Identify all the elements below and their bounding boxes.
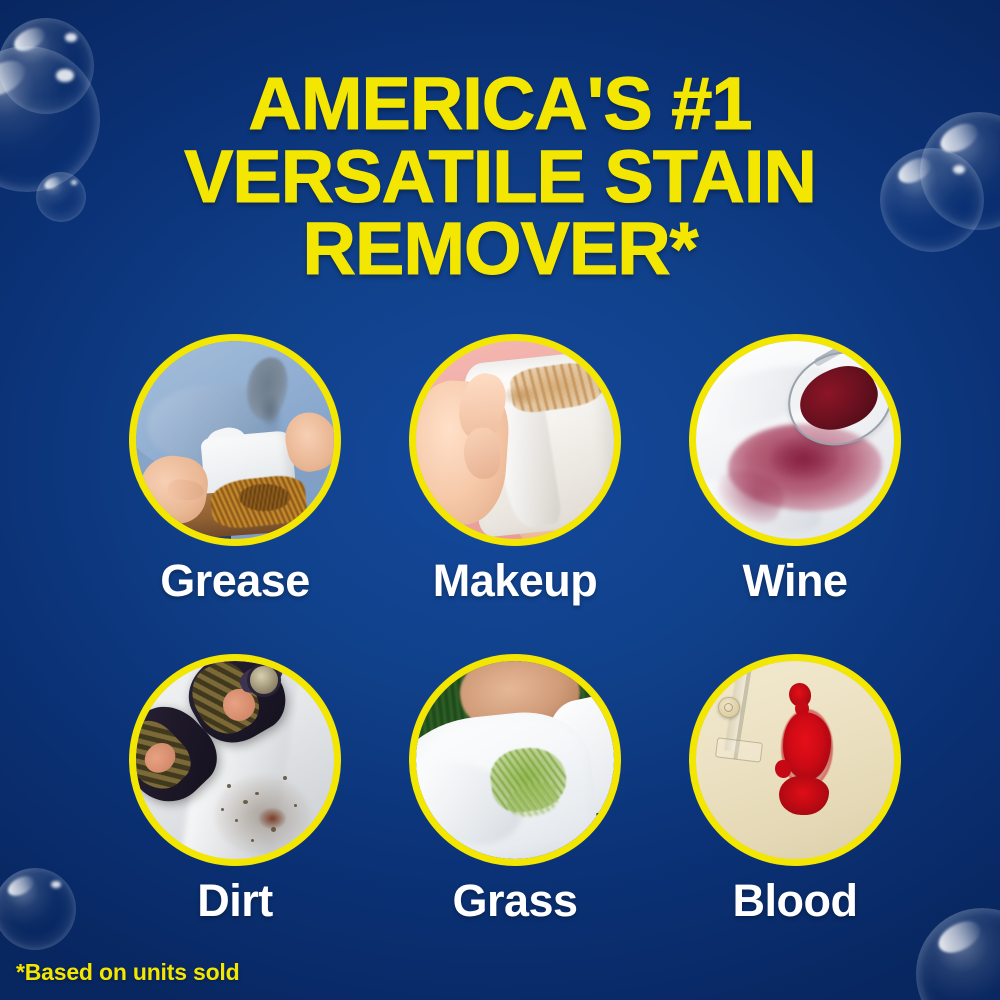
footnote-disclaimer: *Based on units sold <box>16 959 239 986</box>
dirt-photo <box>129 654 341 866</box>
stain-item-wine: Wine <box>655 334 935 654</box>
page-title: AMERICA'S #1 VERSATILE STAIN REMOVER* <box>0 68 1000 286</box>
headline-line-2: VERSATILE STAIN <box>0 141 1000 214</box>
wine-photo <box>689 334 901 546</box>
headline-line-1: AMERICA'S #1 <box>0 68 1000 141</box>
stain-item-blood: Blood <box>655 654 935 974</box>
stain-item-dirt: Dirt <box>95 654 375 974</box>
advertisement-canvas: AMERICA'S #1 VERSATILE STAIN REMOVER* <box>0 0 1000 1000</box>
grass-photo <box>409 654 621 866</box>
stain-label: Grease <box>160 558 310 603</box>
stain-type-grid: Grease Makeup <box>95 334 935 974</box>
stain-label: Blood <box>733 878 858 923</box>
soap-bubble-icon <box>0 868 76 950</box>
makeup-photo <box>409 334 621 546</box>
blood-photo <box>689 654 901 866</box>
stain-label: Makeup <box>433 558 598 603</box>
stain-item-grass: Grass <box>375 654 655 974</box>
stain-label: Dirt <box>197 878 273 923</box>
stain-item-grease: Grease <box>95 334 375 654</box>
stain-item-makeup: Makeup <box>375 334 655 654</box>
stain-label: Grass <box>452 878 577 923</box>
grease-photo <box>129 334 341 546</box>
headline-line-3: REMOVER* <box>0 213 1000 286</box>
stain-label: Wine <box>742 558 847 603</box>
